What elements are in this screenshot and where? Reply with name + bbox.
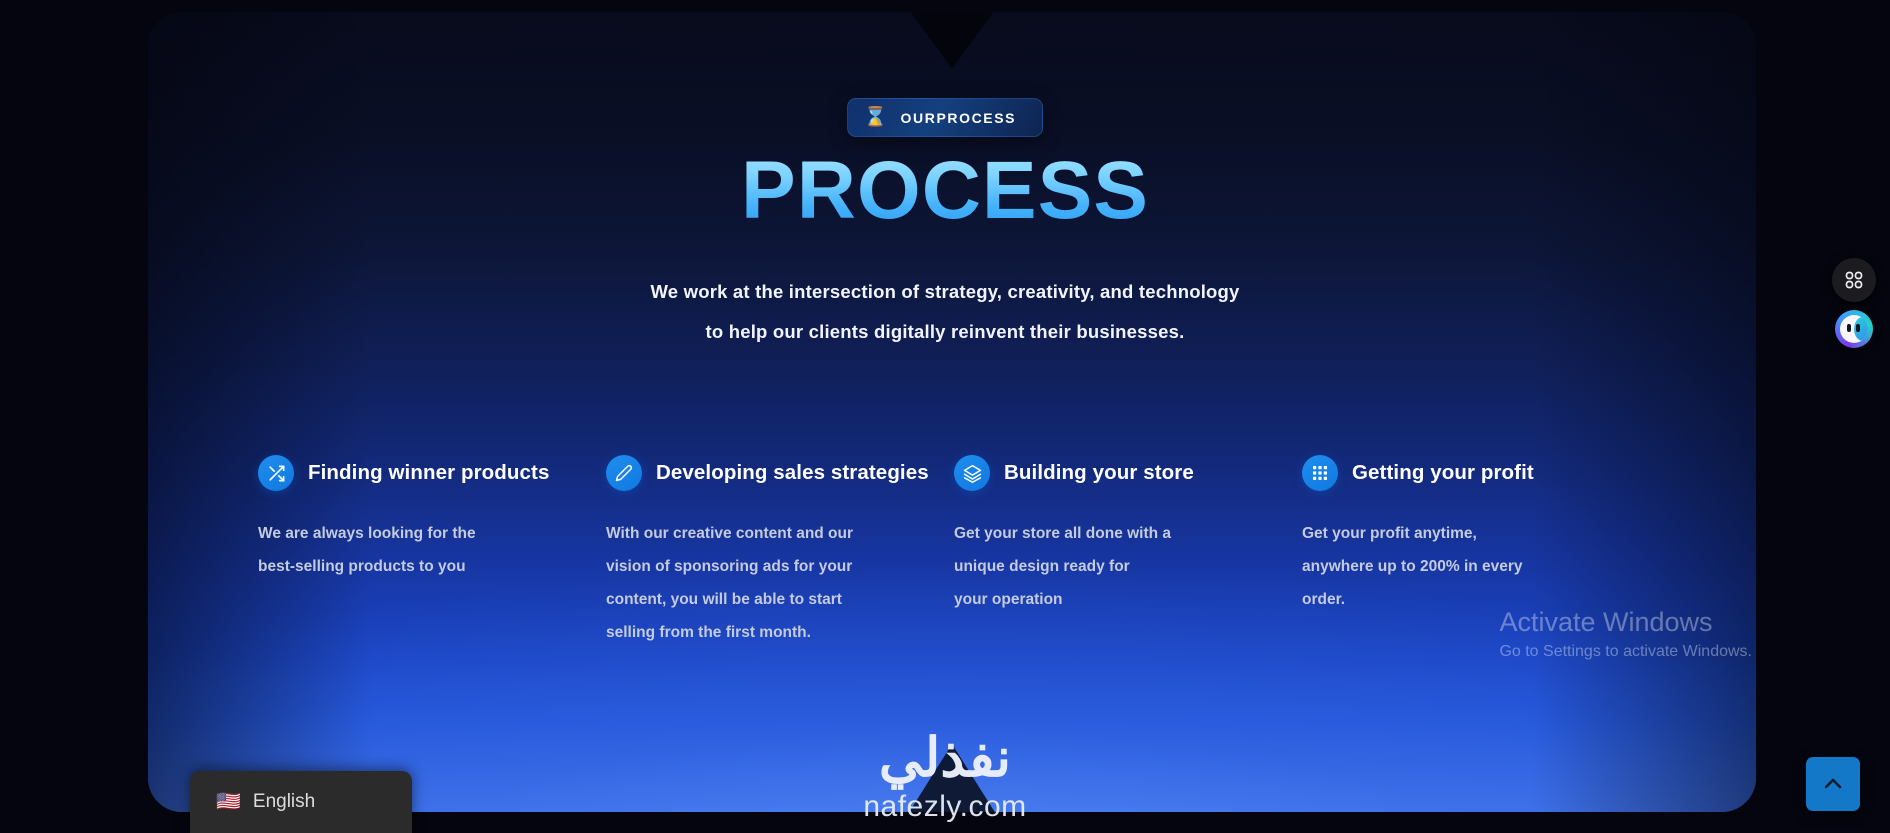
feature-title: Finding winner products: [308, 461, 549, 485]
apps-grid-button[interactable]: [1832, 258, 1876, 302]
our-process-badge: ⌛ OURPROCESS: [847, 98, 1043, 137]
feature-body-line: your operation: [954, 583, 1224, 616]
feature-title: Building your store: [1004, 461, 1194, 485]
layers-icon: [954, 455, 990, 491]
feature-item-getting-your-profit: Getting your profit Get your profit anyt…: [1302, 455, 1650, 649]
feature-body: Get your store all done with a unique de…: [954, 517, 1224, 616]
chevron-up-icon: [1821, 772, 1845, 796]
scroll-to-top-button[interactable]: [1806, 757, 1860, 811]
feature-header: Building your store: [954, 455, 1272, 491]
feature-body-line: selling from the first month.: [606, 616, 876, 649]
feature-title: Getting your profit: [1352, 461, 1534, 485]
feature-body-line: unique design ready for: [954, 550, 1224, 583]
feature-body: We are always looking for the best-selli…: [258, 517, 528, 583]
feature-header: Developing sales strategies: [606, 455, 924, 491]
language-selector[interactable]: 🇺🇸 English: [190, 771, 412, 833]
avatar-eye-right: [1856, 324, 1860, 332]
feature-body: Get your profit anytime, anywhere up to …: [1302, 517, 1572, 616]
feature-body-line: vision of sponsoring ads for your: [606, 550, 876, 583]
page-root: ⌛ OURPROCESS PROCESS We work at the inte…: [0, 0, 1890, 833]
feature-item-building-your-store: Building your store Get your store all d…: [954, 455, 1302, 649]
chat-avatar-icon: [1840, 315, 1868, 343]
feature-body-line: Get your store all done with a: [954, 517, 1224, 550]
feature-body-line: anywhere up to 200% in every: [1302, 550, 1572, 583]
badge-label: OURPROCESS: [901, 110, 1017, 126]
features-row: Finding winner products We are always lo…: [258, 455, 1650, 649]
feature-body-line: We are always looking for the: [258, 517, 528, 550]
feature-body-line: Get your profit anytime,: [1302, 517, 1572, 550]
hourglass-icon: ⌛: [864, 108, 888, 127]
page-title: PROCESS: [0, 150, 1890, 232]
subtitle-line-1: We work at the intersection of strategy,…: [0, 272, 1890, 312]
feature-body: With our creative content and our vision…: [606, 517, 876, 649]
feature-body-line: content, you will be able to start: [606, 583, 876, 616]
pencil-icon: [606, 455, 642, 491]
language-label: English: [253, 791, 315, 813]
subtitle-line-2: to help our clients digitally reinvent t…: [0, 312, 1890, 352]
feature-body-line: best-selling products to you: [258, 550, 528, 583]
feature-body-line: order.: [1302, 583, 1572, 616]
shuffle-icon: [258, 455, 294, 491]
feature-header: Getting your profit: [1302, 455, 1620, 491]
badge-row: ⌛ OURPROCESS: [0, 98, 1890, 137]
chat-avatar-button[interactable]: [1835, 310, 1873, 348]
top-notch-shape: [910, 12, 994, 69]
us-flag-icon: 🇺🇸: [216, 792, 241, 812]
feature-body-line: With our creative content and our: [606, 517, 876, 550]
feature-header: Finding winner products: [258, 455, 576, 491]
feature-title: Developing sales strategies: [656, 461, 929, 485]
feature-item-finding-winner-products: Finding winner products We are always lo…: [258, 455, 606, 649]
feature-item-developing-sales-strategies: Developing sales strategies With our cre…: [606, 455, 954, 649]
apps-grid-icon: [1844, 270, 1864, 290]
avatar-eye-left: [1847, 324, 1851, 332]
grid-dots-icon: [1302, 455, 1338, 491]
section-subtitle: We work at the intersection of strategy,…: [0, 272, 1890, 352]
